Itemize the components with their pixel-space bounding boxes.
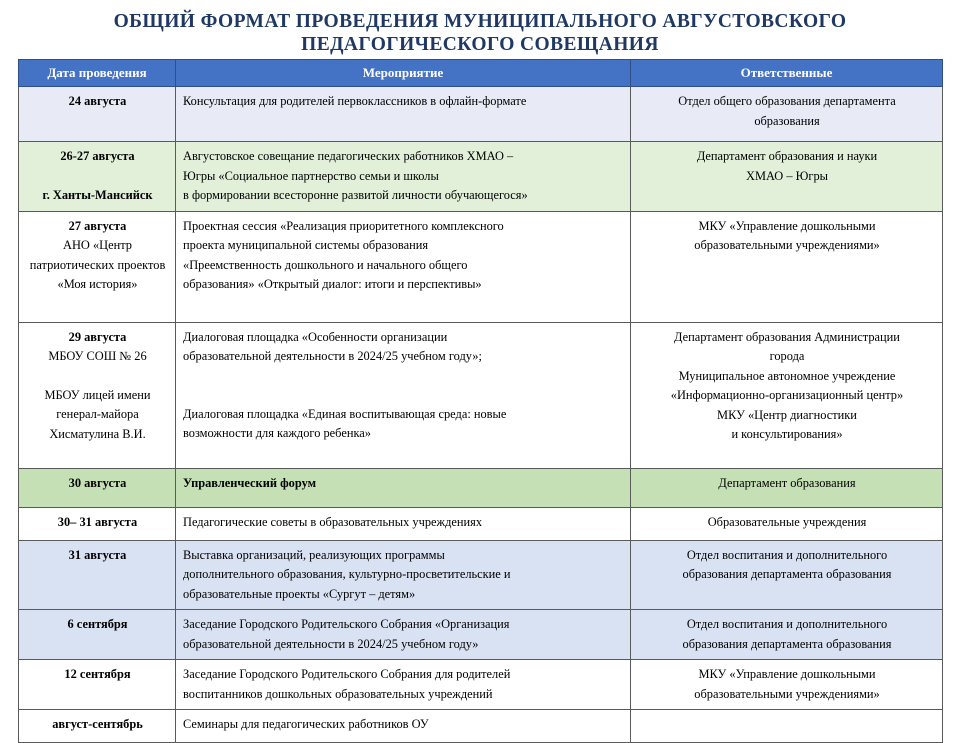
date-main: 24 августа (69, 94, 127, 108)
event-line: возможности для каждого ребенка» (183, 424, 624, 444)
date-main: 6 сентября (68, 617, 128, 631)
event-line: Диалоговая площадка «Единая воспитывающа… (183, 405, 624, 425)
cell-responsible: МКУ «Управление дошкольными образователь… (631, 660, 943, 710)
responsible-line: образования департамента образования (638, 635, 936, 655)
event-line: в формировании всесторонне развитой личн… (183, 186, 624, 206)
date-sub: МБОУ СОШ № 26 (26, 347, 169, 367)
event-line: Югры «Социальное партнерство семьи и шко… (183, 167, 624, 187)
event-line: Управленческий форум (183, 474, 624, 494)
event-line: Проектная сессия «Реализация приоритетно… (183, 217, 624, 237)
table-row: 30– 31 августа Педагогические советы в о… (19, 507, 943, 540)
date-main: 30 августа (69, 476, 127, 490)
date-sub-2: МБОУ лицей имени генерал-майора Хисматул… (26, 386, 169, 445)
cell-responsible: Департамент образования и науки ХМАО – Ю… (631, 142, 943, 212)
cell-date: 12 сентября (19, 660, 176, 710)
cell-responsible (631, 710, 943, 743)
date-main: 26-27 августа (60, 149, 134, 163)
schedule-table: Дата проведения Мероприятие Ответственны… (18, 59, 943, 743)
page-title-line-2: ПЕДАГОГИЧЕСКОГО СОВЕЩАНИЯ (60, 33, 900, 56)
date-main: август-сентябрь (52, 717, 143, 731)
event-line: образовательные проекты «Сургут – детям» (183, 585, 624, 605)
cell-responsible: Отдел общего образования департамента об… (631, 87, 943, 142)
event-line: Выставка организаций, реализующих програ… (183, 546, 624, 566)
event-line: образования» «Открытый диалог: итоги и п… (183, 275, 624, 295)
cell-event: Проектная сессия «Реализация приоритетно… (176, 211, 631, 322)
cell-date: август-сентябрь (19, 710, 176, 743)
table-row: 24 августа Консультация для родителей пе… (19, 87, 943, 142)
event-line: Педагогические советы в образовательных … (183, 513, 624, 533)
table-row: 29 августа МБОУ СОШ № 26 МБОУ лицей имен… (19, 322, 943, 468)
table-row: 6 сентября Заседание Городского Родитель… (19, 610, 943, 660)
event-line: Диалоговая площадка «Особенности организ… (183, 328, 624, 348)
responsible-line: ХМАО – Югры (638, 167, 936, 187)
responsible-line: образования (638, 112, 936, 132)
responsible-line: Отдел воспитания и дополнительного (638, 546, 936, 566)
cell-event: Диалоговая площадка «Особенности организ… (176, 322, 631, 468)
date-main: 31 августа (69, 548, 127, 562)
event-line: «Преемственность дошкольного и начальног… (183, 256, 624, 276)
cell-event: Заседание Городского Родительского Собра… (176, 610, 631, 660)
table-row: 12 сентября Заседание Городского Родител… (19, 660, 943, 710)
event-line: Заседание Городского Родительского Собра… (183, 615, 624, 635)
table-row: 26-27 августа г. Ханты-Мансийск Августов… (19, 142, 943, 212)
table-row: 30 августа Управленческий форум Департам… (19, 468, 943, 507)
event-line: воспитанников дошкольных образовательных… (183, 685, 624, 705)
cell-responsible: Отдел воспитания и дополнительного образ… (631, 610, 943, 660)
responsible-line: МКУ «Управление дошкольными (638, 217, 936, 237)
cell-date: 27 августа АНО «Центр патриотических про… (19, 211, 176, 322)
event-line: дополнительного образования, культурно-п… (183, 565, 624, 585)
cell-event: Семинары для педагогических работников О… (176, 710, 631, 743)
event-line: образовательной деятельности в 2024/25 у… (183, 635, 624, 655)
date-main: 27 августа (69, 219, 127, 233)
event-line: образовательной деятельности в 2024/25 у… (183, 347, 624, 367)
page-title-line-1: ОБЩИЙ ФОРМАТ ПРОВЕДЕНИЯ МУНИЦИПАЛЬНОГО А… (60, 10, 900, 33)
column-header-event: Мероприятие (176, 60, 631, 87)
responsible-line: Муниципальное автономное учреждение (638, 367, 936, 387)
cell-event: Управленческий форум (176, 468, 631, 507)
responsible-line: Отдел воспитания и дополнительного (638, 615, 936, 635)
date-main: 12 сентября (64, 667, 130, 681)
responsible-line: Департамент образования (638, 474, 936, 494)
cell-date: 31 августа (19, 540, 176, 610)
responsible-line: МКУ «Центр диагностики (638, 406, 936, 426)
responsible-line: Департамент образования и науки (638, 147, 936, 167)
cell-event: Педагогические советы в образовательных … (176, 507, 631, 540)
responsible-line: образовательными учреждениями» (638, 685, 936, 705)
cell-date: 30 августа (19, 468, 176, 507)
table-row: 31 августа Выставка организаций, реализу… (19, 540, 943, 610)
cell-event: Августовское совещание педагогических ра… (176, 142, 631, 212)
cell-responsible: МКУ «Управление дошкольными образователь… (631, 211, 943, 322)
table-row: август-сентябрь Семинары для педагогичес… (19, 710, 943, 743)
page-title: ОБЩИЙ ФОРМАТ ПРОВЕДЕНИЯ МУНИЦИПАЛЬНОГО А… (60, 10, 900, 56)
responsible-line: города (638, 347, 936, 367)
date-main: 29 августа (69, 330, 127, 344)
responsible-line: МКУ «Управление дошкольными (638, 665, 936, 685)
responsible-line: образования департамента образования (638, 565, 936, 585)
cell-event: Выставка организаций, реализующих програ… (176, 540, 631, 610)
document-page: ОБЩИЙ ФОРМАТ ПРОВЕДЕНИЯ МУНИЦИПАЛЬНОГО А… (0, 0, 960, 720)
column-header-date: Дата проведения (19, 60, 176, 87)
event-line: проекта муниципальной системы образовани… (183, 236, 624, 256)
cell-responsible: Департамент образования (631, 468, 943, 507)
table-row: 27 августа АНО «Центр патриотических про… (19, 211, 943, 322)
event-line: Заседание Городского Родительского Собра… (183, 665, 624, 685)
responsible-line: Отдел общего образования департамента (638, 92, 936, 112)
cell-event: Консультация для родителей первоклассник… (176, 87, 631, 142)
responsible-line: и консультирования» (638, 425, 936, 445)
column-header-responsible: Ответственные (631, 60, 943, 87)
event-line: Семинары для педагогических работников О… (183, 715, 624, 735)
date-sub: г. Ханты-Мансийск (26, 186, 169, 206)
cell-date: 30– 31 августа (19, 507, 176, 540)
date-sub: АНО «Центр патриотических проектов «Моя … (26, 236, 169, 295)
cell-date: 29 августа МБОУ СОШ № 26 МБОУ лицей имен… (19, 322, 176, 468)
cell-date: 24 августа (19, 87, 176, 142)
cell-responsible: Департамент образования Администрации го… (631, 322, 943, 468)
table-header-row: Дата проведения Мероприятие Ответственны… (19, 60, 943, 87)
event-line: Консультация для родителей первоклассник… (183, 92, 624, 112)
responsible-line: Департамент образования Администрации (638, 328, 936, 348)
cell-responsible: Образовательные учреждения (631, 507, 943, 540)
responsible-line: образовательными учреждениями» (638, 236, 936, 256)
cell-event: Заседание Городского Родительского Собра… (176, 660, 631, 710)
cell-date: 6 сентября (19, 610, 176, 660)
cell-responsible: Отдел воспитания и дополнительного образ… (631, 540, 943, 610)
responsible-line: «Информационно-организационный центр» (638, 386, 936, 406)
date-main: 30– 31 августа (58, 515, 137, 529)
event-line: Августовское совещание педагогических ра… (183, 147, 624, 167)
responsible-line: Образовательные учреждения (638, 513, 936, 533)
cell-date: 26-27 августа г. Ханты-Мансийск (19, 142, 176, 212)
